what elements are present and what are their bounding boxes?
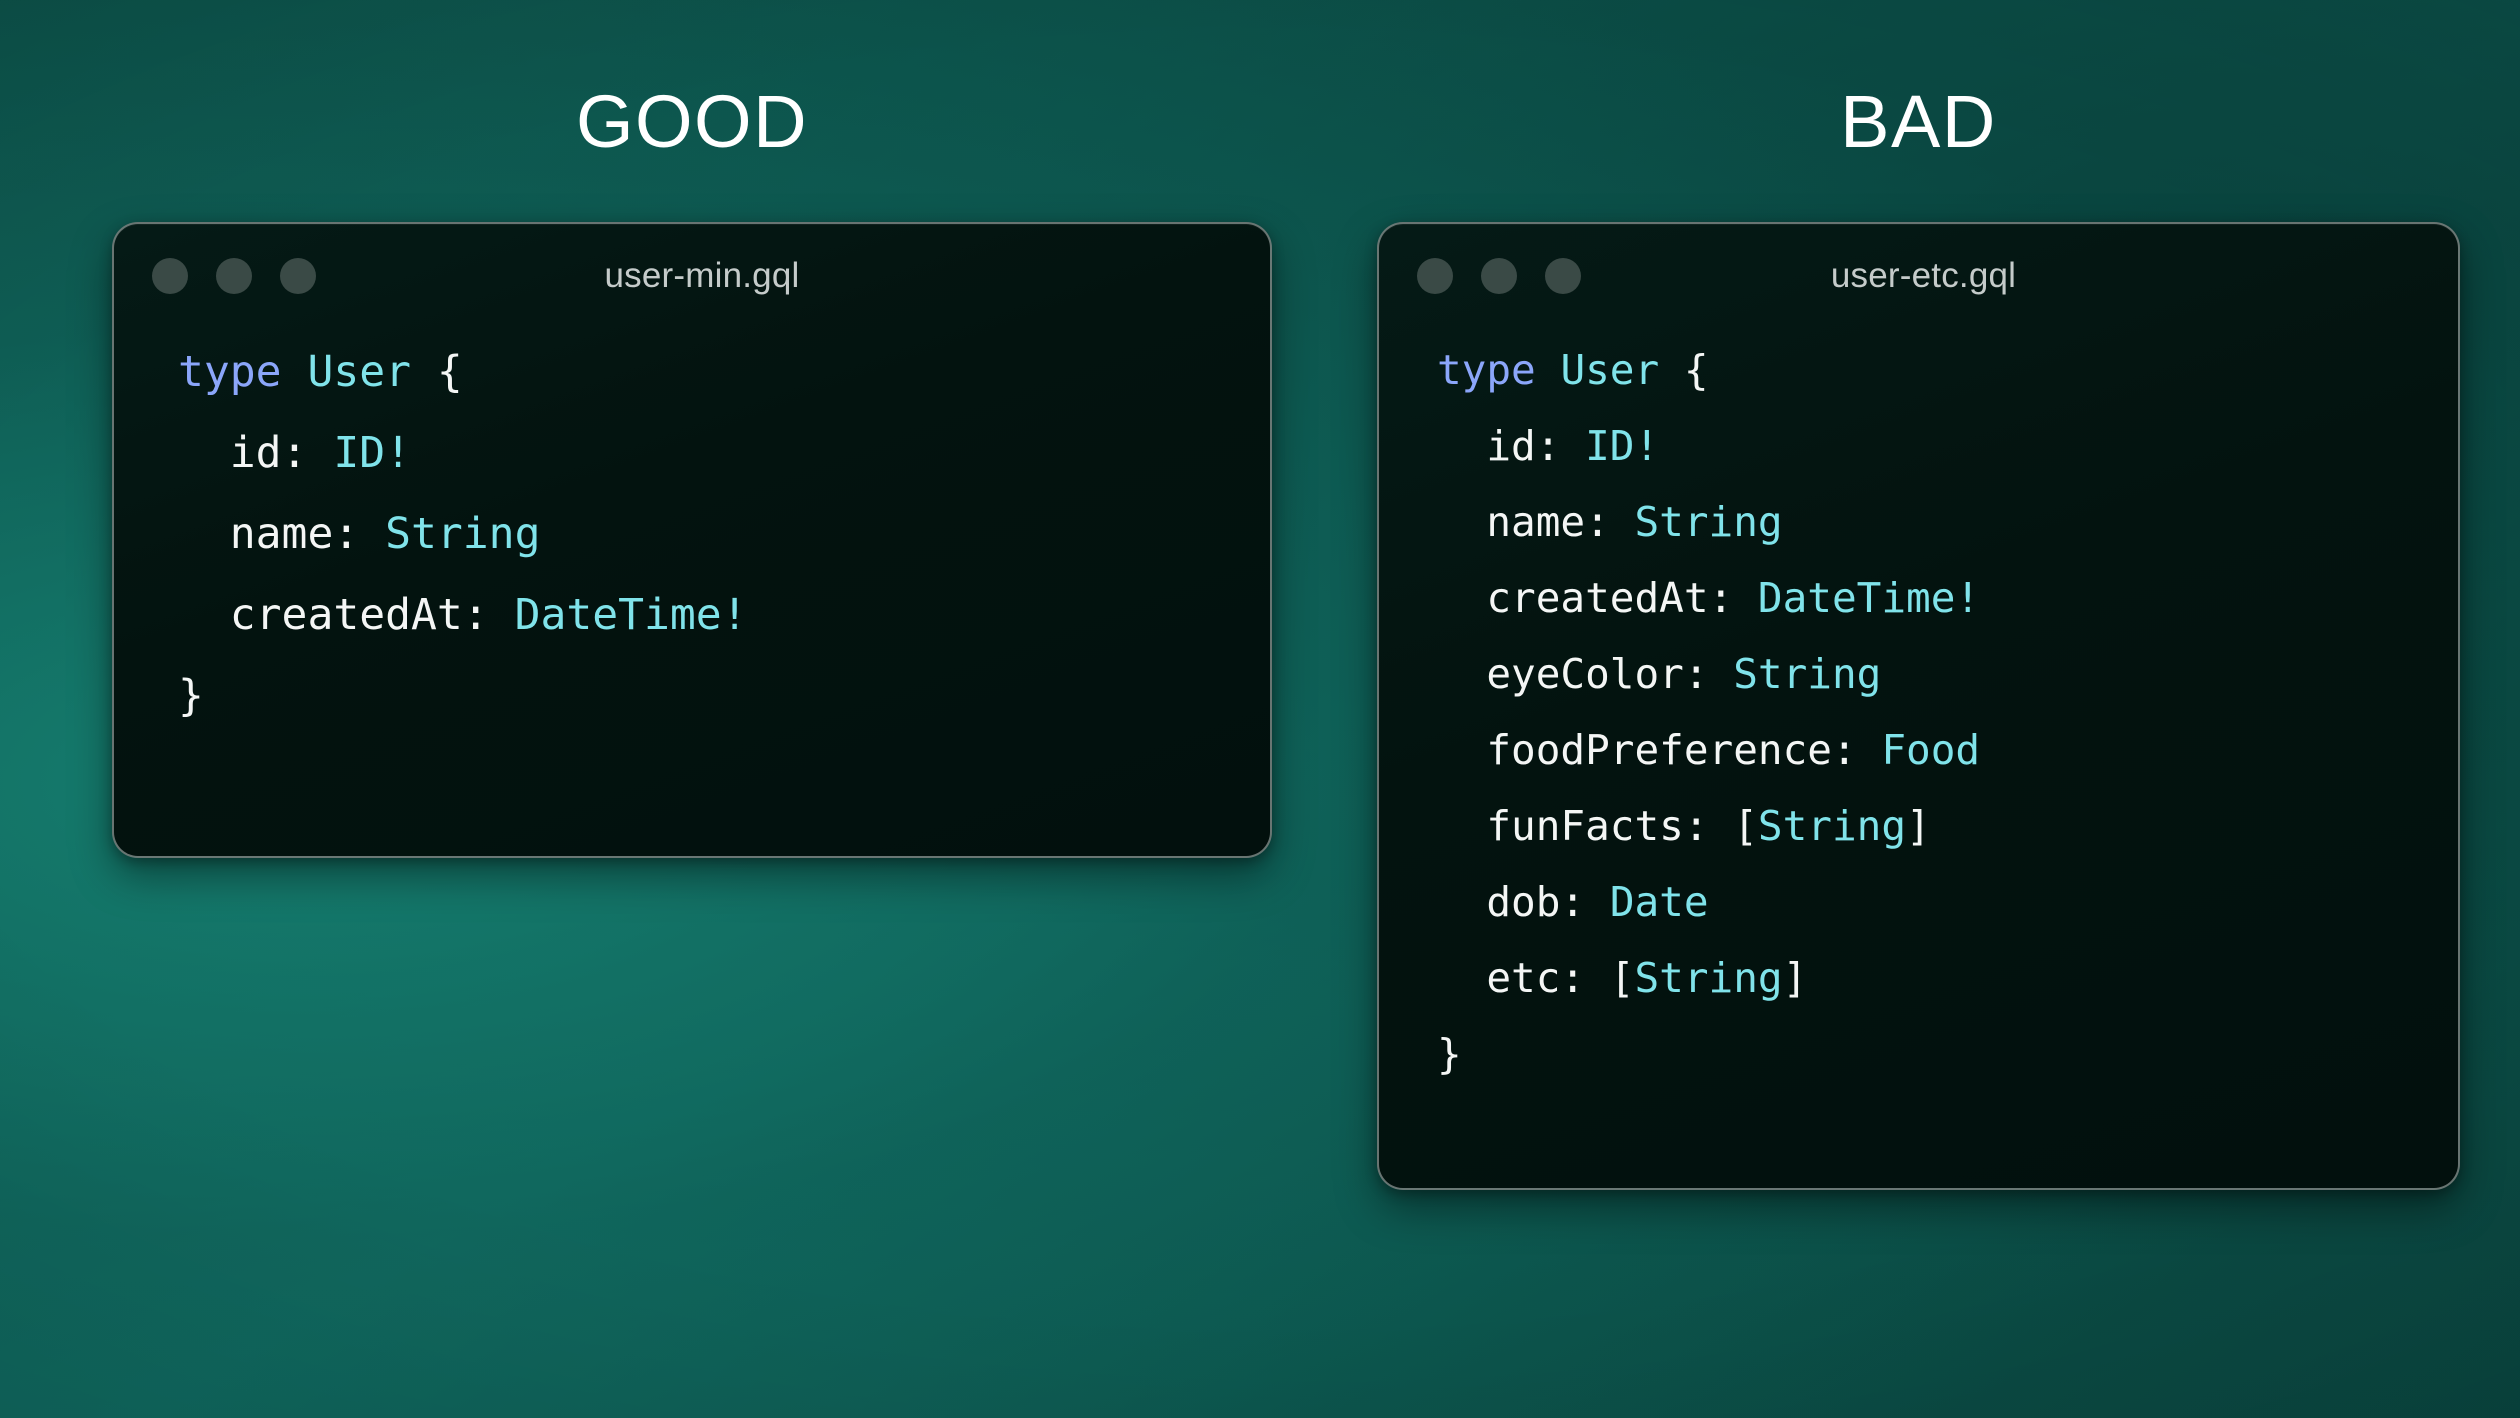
code-non-null: ! [1635,422,1660,470]
code-indent [178,428,230,478]
code-field-type: String [1634,498,1782,546]
code-indent [178,509,230,559]
code-non-null: ! [1955,574,1980,622]
code-line: createdAt: DateTime! [1437,560,2458,636]
window-dot-minimize-icon[interactable] [1481,258,1517,294]
window-dots-good [152,258,316,294]
code-field-type: String [1733,650,1881,698]
code-non-null: ! [722,590,748,640]
code-space [489,590,515,640]
code-line: } [1437,1016,2458,1092]
code-indent [1437,802,1486,850]
code-line: name: String [178,494,1270,575]
code-space [1585,954,1610,1002]
code-field-type: String [385,509,540,559]
code-type-name: User [307,347,411,397]
code-field-type: Food [1881,726,1980,774]
code-line: eyeColor: String [1437,636,2458,712]
code-field-name: name: [1486,498,1609,546]
code-non-null: ! [385,428,411,478]
code-space [1585,878,1610,926]
window-dots-bad [1417,258,1581,294]
code-space [1536,346,1561,394]
code-indent [1437,878,1486,926]
code-field-name: dob: [1486,878,1585,926]
window-dot-close-icon[interactable] [152,258,188,294]
code-field-type: DateTime [515,590,722,640]
window-dot-minimize-icon[interactable] [216,258,252,294]
code-keyword: type [178,347,282,397]
code-brace-open: { [411,347,463,397]
column-title-good: GOOD [112,85,1272,159]
code-indent [178,590,230,640]
code-bracket-open: [ [1733,802,1758,850]
code-block-bad: type User { id: ID! name: String created… [1379,328,2458,1092]
code-line: type User { [1437,332,2458,408]
code-field-name: eyeColor: [1486,650,1708,698]
code-indent [1437,650,1486,698]
code-field-type: ID [333,428,385,478]
code-bracket-close: ] [1783,954,1808,1002]
code-window-bad[interactable]: user-etc.gql type User { id: ID! name: S… [1377,222,2460,1190]
code-field-type: String [1635,954,1783,1002]
code-field-name: funFacts: [1486,802,1708,850]
code-line: id: ID! [1437,408,2458,484]
code-field-type: DateTime [1758,574,1955,622]
code-window-good[interactable]: user-min.gql type User { id: ID! name: S… [112,222,1272,858]
code-space [1709,650,1734,698]
code-brace-open: { [1659,346,1708,394]
code-line: createdAt: DateTime! [178,575,1270,656]
code-space [1560,422,1585,470]
column-title-bad: BAD [1377,85,2460,159]
code-field-type: Date [1610,878,1709,926]
code-field-type: ID [1585,422,1634,470]
window-titlebar-bad: user-etc.gql [1379,224,2458,328]
code-indent [1437,498,1486,546]
code-space [1610,498,1635,546]
code-line: name: String [1437,484,2458,560]
code-line: } [178,656,1270,737]
code-line: etc: [String] [1437,940,2458,1016]
code-keyword: type [1437,346,1536,394]
code-space [282,347,308,397]
code-line: id: ID! [178,413,1270,494]
code-type-name: User [1560,346,1659,394]
code-brace-close: } [1437,1030,1462,1078]
code-field-type: String [1758,802,1906,850]
code-field-name: id: [230,428,308,478]
code-field-name: name: [230,509,359,559]
code-line: type User { [178,332,1270,413]
code-block-good: type User { id: ID! name: String created… [114,328,1270,737]
code-space [307,428,333,478]
code-line: dob: Date [1437,864,2458,940]
code-space [1709,802,1734,850]
code-indent [1437,422,1486,470]
code-field-name: etc: [1486,954,1585,1002]
window-dot-zoom-icon[interactable] [280,258,316,294]
code-bracket-close: ] [1906,802,1931,850]
code-brace-close: } [178,671,204,721]
window-titlebar-good: user-min.gql [114,224,1270,328]
code-field-name: foodPreference: [1486,726,1856,774]
code-line: funFacts: [String] [1437,788,2458,864]
code-indent [1437,726,1486,774]
window-dot-close-icon[interactable] [1417,258,1453,294]
code-bracket-open: [ [1610,954,1635,1002]
code-field-name: createdAt: [230,590,489,640]
code-indent [1437,574,1486,622]
code-space [1733,574,1758,622]
code-space [1857,726,1882,774]
code-field-name: createdAt: [1486,574,1733,622]
code-field-name: id: [1486,422,1560,470]
comparison-stage: GOOD user-min.gql type User { id: ID! na… [0,0,2520,1418]
code-indent [1437,954,1486,1002]
code-line: foodPreference: Food [1437,712,2458,788]
code-space [359,509,385,559]
window-dot-zoom-icon[interactable] [1545,258,1581,294]
